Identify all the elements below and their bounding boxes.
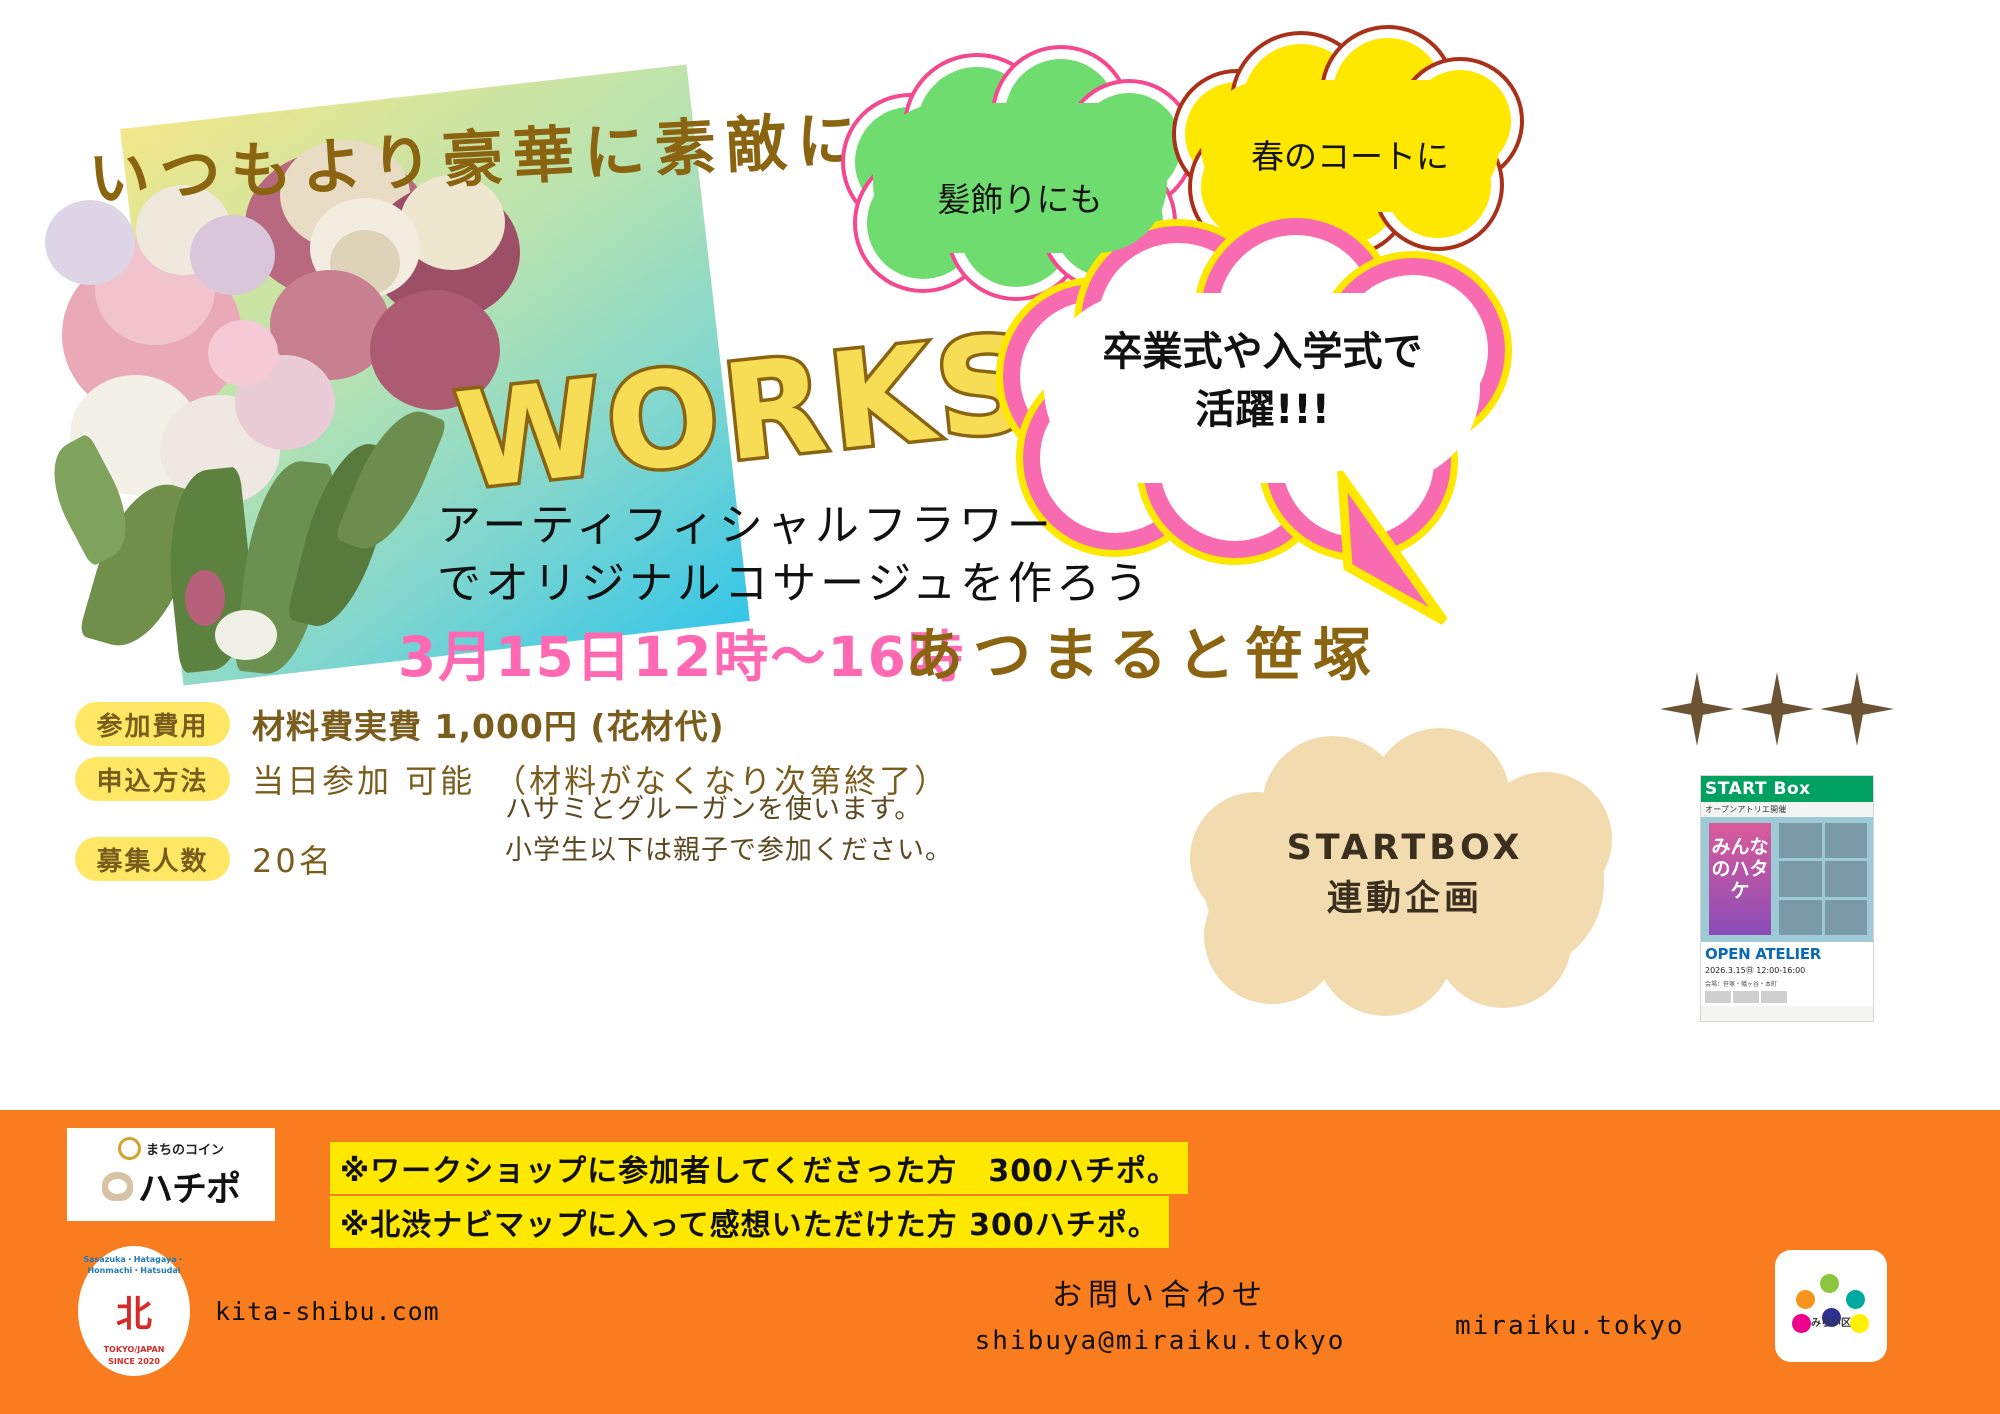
miraiku-site-url[interactable]: miraiku.tokyo [1455, 1311, 1685, 1341]
star-icon [1660, 672, 1734, 746]
bubble-graduation: 卒業式や入学式で 活躍!!! [1020, 235, 1505, 535]
info-value: 材料費実費 1,000円 (花材代) [252, 700, 725, 748]
poster-title: OPEN ATELIER [1705, 945, 1869, 963]
kita-shibu-logo: Sasazuka・Hatagaya・Honmachi・Hatsudai TOKY… [78, 1246, 190, 1376]
footer-note-1: ※ワークショップに参加者してくださった方 300ハチポ。 [330, 1142, 1188, 1194]
poster-logo-chips [1705, 991, 1869, 1003]
contact-block: お問い合わせ shibuya@miraiku.tokyo [880, 1270, 1440, 1356]
info-row: 参加費用 材料費実費 1,000円 (花材代) [75, 700, 1075, 748]
hachipo-top-label: まちのコイン [146, 1139, 224, 1158]
startbox-poster-thumbnail[interactable]: START Box オープンアトリエ開催 みんなのハタケ OPEN ATELIE… [1700, 775, 1874, 1022]
poster-canvas: いつもより豪華に素敵に WORKSHOP 髪飾りにも 春のコートに [0, 0, 2000, 1414]
info-tag: 募集人数 [75, 837, 230, 881]
subtitle: アーティフィシャルフラワー でオリジナルコサージュを作ろう [437, 497, 1197, 613]
miraiku-logo-dots: みらい区 [1792, 1274, 1870, 1338]
startbox-cloud-text: STARTBOX 連動企画 [1190, 823, 1620, 925]
star-icon [1740, 672, 1814, 746]
star-decoration [1660, 672, 1894, 746]
info-note: ハサミとグルーガンを使います。 小学生以下は親子で参加ください。 [505, 790, 953, 871]
poster-datetime: 2026.3.15㊐ 12:00-16:00 [1705, 965, 1869, 976]
event-venue: あつまると笹塚 [905, 608, 1381, 692]
hachipo-name: ハチポ [138, 1161, 240, 1212]
poster-footer: OPEN ATELIER 2026.3.15㊐ 12:00-16:00 会場：笹… [1701, 942, 1873, 1006]
event-date: 3月15日12時～16時 [398, 612, 965, 692]
bubble-pink-text: 卒業式や入学式で 活躍!!! [1020, 323, 1505, 439]
poster-brand: START Box [1701, 776, 1873, 802]
info-value: 20名 [252, 836, 334, 882]
star-icon [1820, 672, 1894, 746]
poster-image-area: みんなのハタケ [1701, 817, 1873, 942]
poster-detail: 会場：笹塚・幡ヶ谷・本町 [1705, 979, 1869, 988]
poster-photo-tiles [1779, 823, 1867, 935]
kita-logo-ring: Sasazuka・Hatagaya・Honmachi・Hatsudai TOKY… [78, 1246, 190, 1376]
miraiku-logo-label: みらい区 [1792, 1314, 1870, 1329]
kita-shibu-url[interactable]: kita-shibu.com [215, 1297, 440, 1326]
poster-strip: みんなのハタケ [1709, 823, 1771, 935]
bubble-yellow-text: 春のコートに [1185, 130, 1515, 178]
hachipo-logo: まちのコイン ハチポ [67, 1128, 275, 1221]
poster-subtitle: オープンアトリエ開催 [1701, 802, 1873, 817]
info-tag: 参加費用 [75, 702, 230, 746]
dog-mascot-icon [102, 1172, 133, 1201]
startbox-cloud: STARTBOX 連動企画 [1190, 728, 1620, 1028]
contact-label: お問い合わせ [880, 1270, 1440, 1314]
bubble-tail-icon [1312, 471, 1452, 641]
info-tag: 申込方法 [75, 757, 230, 801]
contact-email[interactable]: shibuya@miraiku.tokyo [880, 1326, 1440, 1356]
bubble-green-text: 髪飾りにも [855, 173, 1185, 221]
bubble-spring-coat: 春のコートに [1185, 38, 1515, 248]
miraiku-logo: みらい区 [1775, 1250, 1887, 1362]
footer-note-2: ※北渋ナビマップに入って感想いただけた方 300ハチポ。 [330, 1196, 1169, 1248]
coin-icon [118, 1137, 141, 1160]
